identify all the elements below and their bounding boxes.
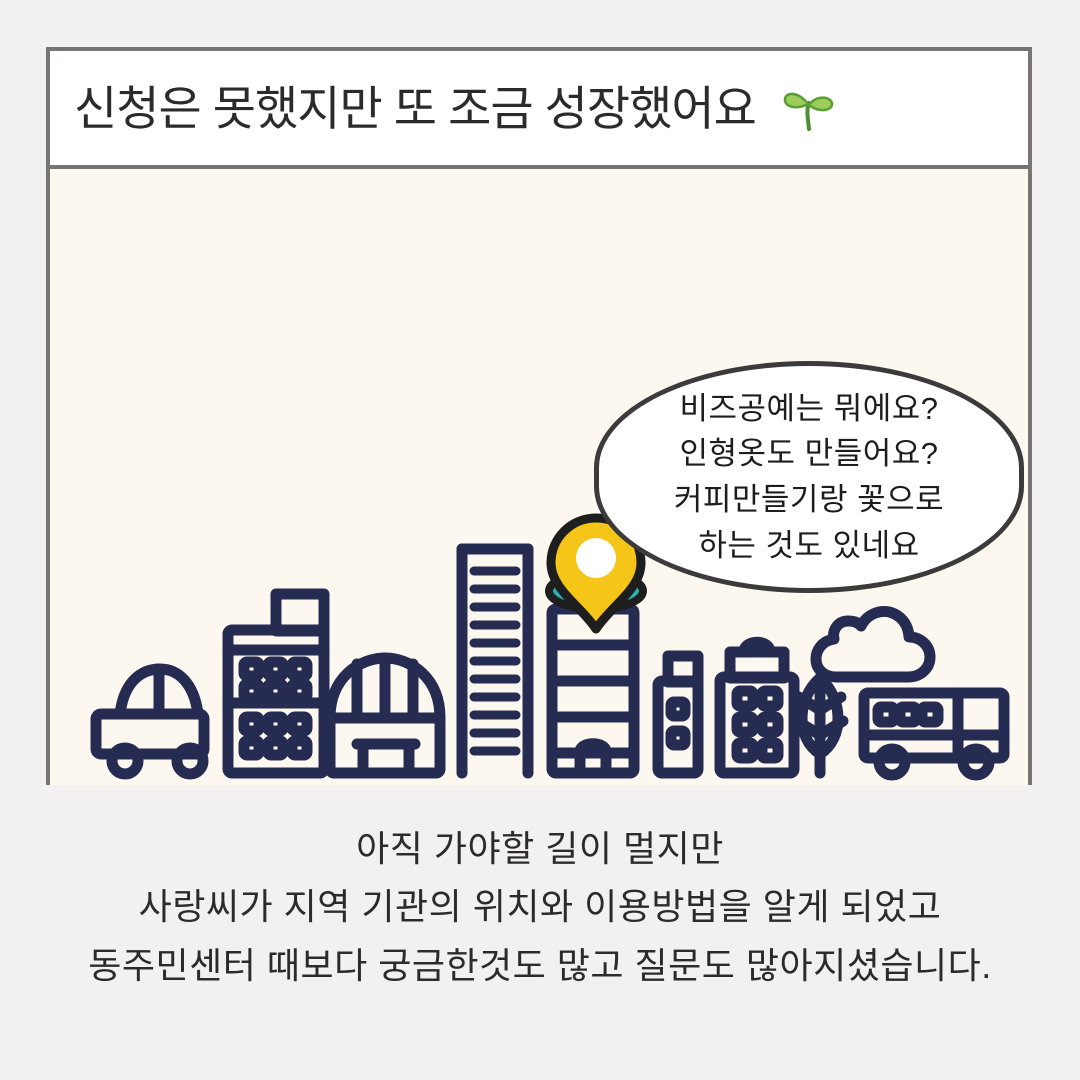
content-card: 신청은 못했지만 또 조금 성장했어요 bbox=[46, 47, 1032, 785]
tree-icon bbox=[797, 678, 843, 773]
caption-block: 아직 가야할 길이 멀지만 사랑씨가 지역 기관의 위치와 이용방법을 알게 되… bbox=[0, 820, 1080, 995]
caption-line-2: 사랑씨가 지역 기관의 위치와 이용방법을 알게 되었고 bbox=[0, 878, 1080, 936]
center-building-icon bbox=[552, 609, 634, 773]
caption-line-1: 아직 가야할 길이 멀지만 bbox=[0, 820, 1080, 878]
bubble-line-1: 비즈공예는 뭐에요? bbox=[679, 389, 938, 429]
speech-bubble: 비즈공예는 뭐에요? 인형옷도 만들어요? 커피만들기랑 꽃으로 하는 것도 있… bbox=[594, 361, 1024, 593]
dome-shop-icon bbox=[330, 658, 440, 773]
caption-line-3: 동주민센터 때보다 궁금한것도 많고 질문도 많아지셨습니다. bbox=[0, 937, 1080, 995]
cloud-icon bbox=[816, 611, 930, 677]
bus-icon bbox=[864, 693, 1004, 775]
striped-tower-icon bbox=[462, 549, 528, 773]
page-title: 신청은 못했지만 또 조금 성장했어요 bbox=[74, 85, 756, 132]
bubble-line-3: 커피만들기랑 꽃으로 bbox=[674, 480, 944, 520]
bubble-line-4: 하는 것도 있네요 bbox=[698, 526, 919, 566]
arched-apartment-icon bbox=[720, 642, 794, 773]
apartment-building-icon bbox=[228, 594, 324, 773]
illustration-panel: 비즈공예는 뭐에요? 인형옷도 만들어요? 커피만들기랑 꽃으로 하는 것도 있… bbox=[50, 169, 1028, 785]
car-icon bbox=[96, 669, 204, 774]
title-bar: 신청은 못했지만 또 조금 성장했어요 bbox=[50, 51, 1028, 169]
seedling-icon bbox=[778, 77, 840, 139]
narrow-tower-icon bbox=[658, 656, 698, 773]
bubble-line-2: 인형옷도 만들어요? bbox=[679, 434, 938, 474]
